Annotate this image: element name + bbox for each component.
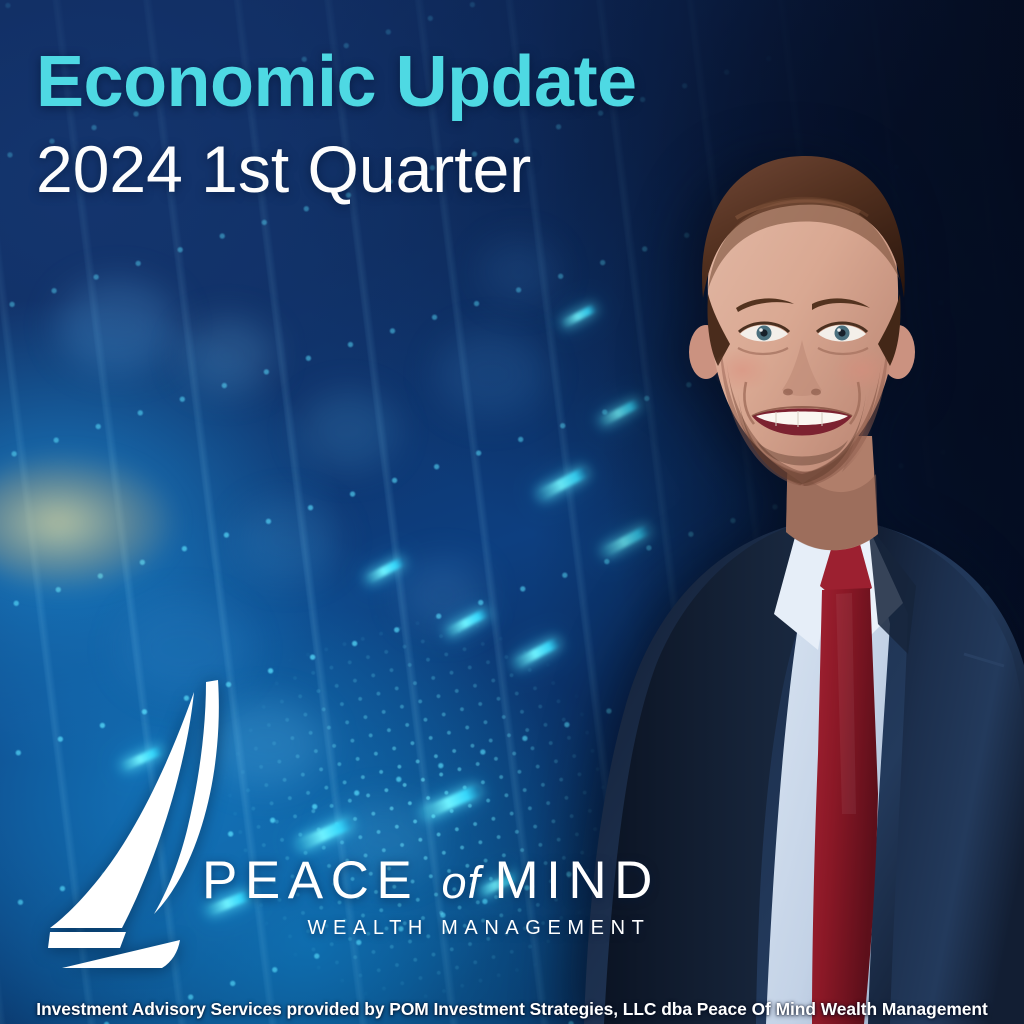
page-subtitle: 2024 1st Quarter (36, 136, 531, 202)
brand-name: PEACE of MIND (196, 854, 666, 907)
brand-name-of: of (441, 857, 494, 908)
legal-disclaimer: Investment Advisory Services provided by… (0, 997, 1024, 1022)
page-title: Economic Update (36, 47, 637, 118)
promo-graphic: Economic Update 2024 1st Quarter PEACE o… (0, 0, 1024, 1024)
brand-name-part2: MIND (495, 851, 660, 910)
brand-tagline: WEALTH MANAGEMENT (196, 918, 666, 938)
brand-wordmark: PEACE of MIND WEALTH MANAGEMENT (196, 854, 666, 938)
brand-logo: PEACE of MIND WEALTH MANAGEMENT (46, 668, 666, 968)
brand-name-part1: PEACE (202, 851, 441, 910)
